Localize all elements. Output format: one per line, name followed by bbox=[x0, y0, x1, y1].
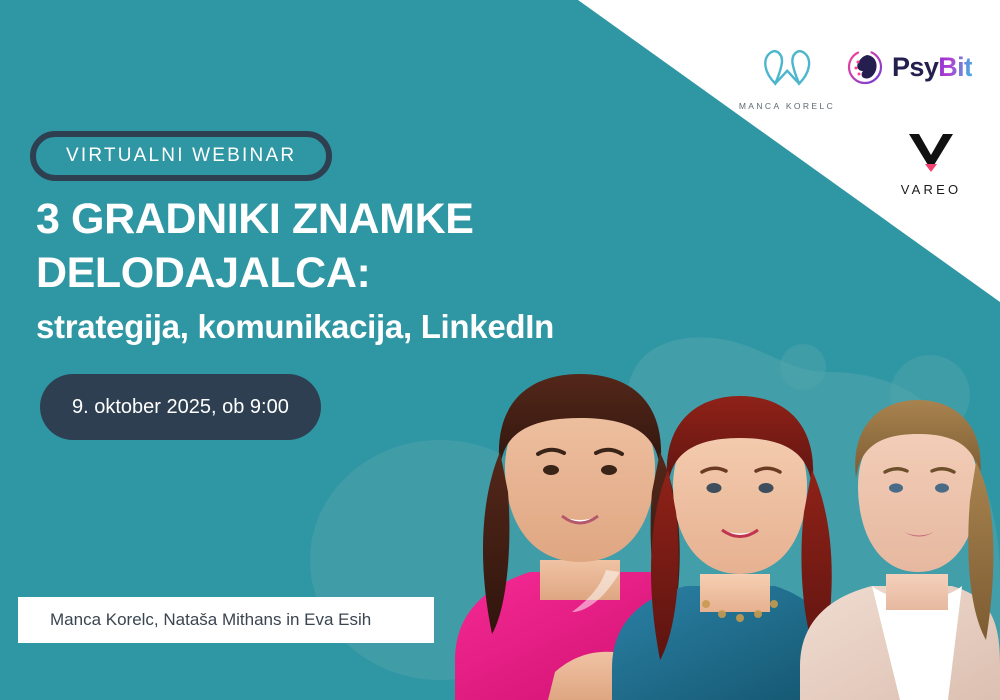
speakers-bar: Manca Korelc, Nataša Mithans in Eva Esih bbox=[18, 597, 434, 643]
psybit-mark bbox=[845, 47, 885, 87]
webinar-poster: MANCA KORELC PsyBit VAREO bbox=[0, 0, 1000, 700]
psybit-text-psy: Psy bbox=[892, 52, 938, 82]
speakers-label: Manca Korelc, Nataša Mithans in Eva Esih bbox=[50, 610, 371, 630]
manca-korelc-logo: MANCA KORELC bbox=[737, 45, 837, 111]
psybit-wordmark: PsyBit bbox=[892, 54, 972, 81]
page-title: 3 GRADNIKI ZNAMKE DELODAJALCA: strategij… bbox=[36, 192, 676, 349]
date-badge: 9. oktober 2025, ob 9:00 bbox=[40, 374, 321, 440]
vareo-wordmark: VAREO bbox=[885, 182, 977, 197]
manca-korelc-wordmark: MANCA KORELC bbox=[737, 101, 837, 111]
virtual-webinar-badge: VIRTUALNI WEBINAR bbox=[30, 131, 332, 181]
headline-line-2: DELODAJALCA: bbox=[36, 246, 676, 300]
manca-korelc-mark bbox=[755, 45, 819, 91]
badge-label: VIRTUALNI WEBINAR bbox=[66, 145, 296, 167]
vareo-mark bbox=[903, 130, 959, 174]
vareo-logo: VAREO bbox=[885, 130, 977, 197]
psybit-logo: PsyBit bbox=[845, 47, 972, 87]
speaker-photos bbox=[0, 0, 1000, 700]
headline-line-1: 3 GRADNIKI ZNAMKE bbox=[36, 192, 676, 246]
psybit-text-bit: Bit bbox=[938, 52, 972, 82]
headline-line-3: strategija, komunikacija, LinkedIn bbox=[36, 306, 676, 349]
date-label: 9. oktober 2025, ob 9:00 bbox=[72, 396, 289, 419]
